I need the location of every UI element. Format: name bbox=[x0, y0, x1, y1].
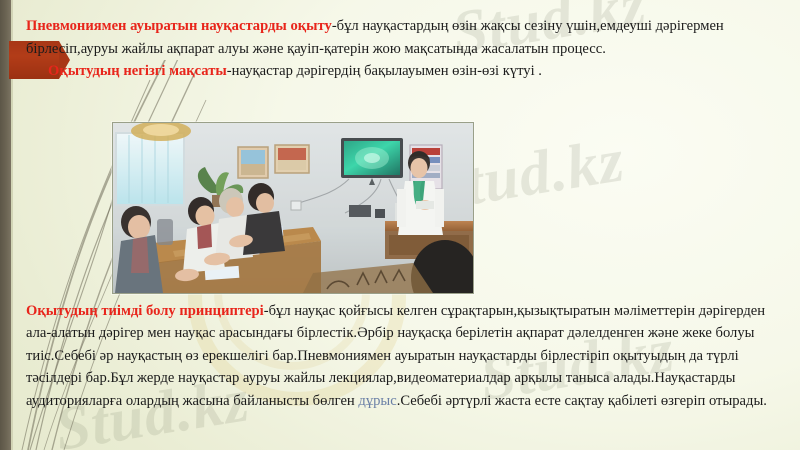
top-paragraph-2: Оқытудың негізгі мақсаты-науқастар дәріг… bbox=[26, 60, 778, 83]
top-heading-1: Пневмониямен ауыратын науқастарды оқыту bbox=[26, 18, 332, 34]
bottom-heading: Оқытудың тиімді болу принциптері bbox=[26, 303, 264, 319]
classroom-lecture-photo bbox=[112, 122, 474, 294]
bottom-text-block: Оқытудың тиімді болу принциптері-бұл нау… bbox=[26, 300, 782, 412]
bottom-body-part-2: .Себебі әртүрлі жаста есте сақтау қабіле… bbox=[397, 393, 767, 409]
top-heading-2: Оқытудың негізгі мақсаты bbox=[48, 63, 227, 79]
presentation-slide: Stud.kz Stud.kz Stud.kz Stud.kz Stud.kz … bbox=[0, 0, 800, 450]
top-body-2: -науқастар дәрігердің бақылауымен өзін-ө… bbox=[227, 63, 542, 79]
bottom-highlighted-word: дұрыс bbox=[358, 393, 396, 409]
top-text-block: Пневмониямен ауыратын науқастарды оқыту-… bbox=[26, 15, 778, 83]
